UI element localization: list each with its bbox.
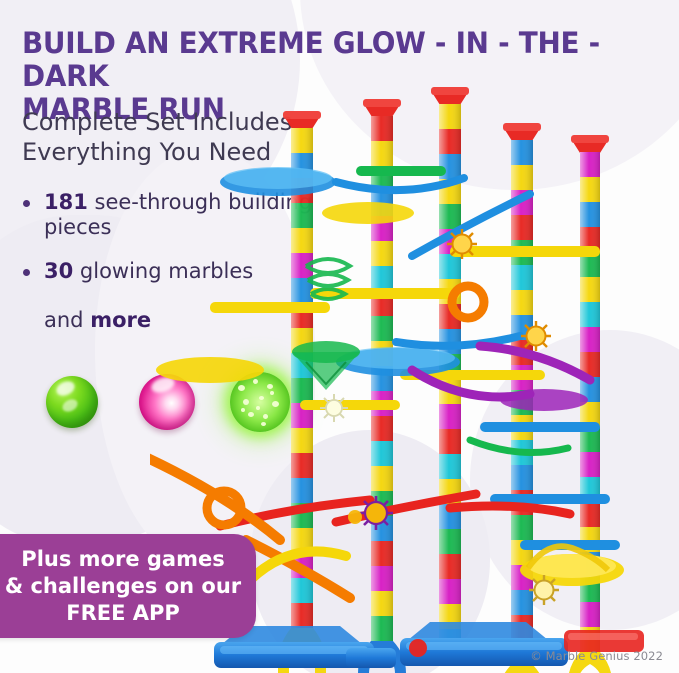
spinner-wheel [320,394,348,422]
bullet-dot-icon [23,200,30,207]
bullet-count: 30 [44,259,73,283]
spinner-wheel [521,321,551,351]
product-infographic: BUILD AN EXTREME GLOW - IN - THE - DARK … [0,0,679,673]
free-app-banner: Plus more games & challenges on our FREE… [0,534,256,638]
bullet-count: 181 [44,190,88,214]
and-more-prefix: and [44,308,90,332]
banner-text: Plus more games & challenges on our FREE… [0,546,246,627]
copyright-notice: © Marble Genius 2022 [530,649,663,663]
spinner-wheel [359,496,393,530]
bullet-dot-icon [23,269,30,276]
spinner-wheel [447,229,477,259]
spinner-wheel [529,575,559,605]
and-more-emphasis: more [90,308,151,332]
green-glossy-marble [46,376,98,428]
base-plate [346,648,396,668]
